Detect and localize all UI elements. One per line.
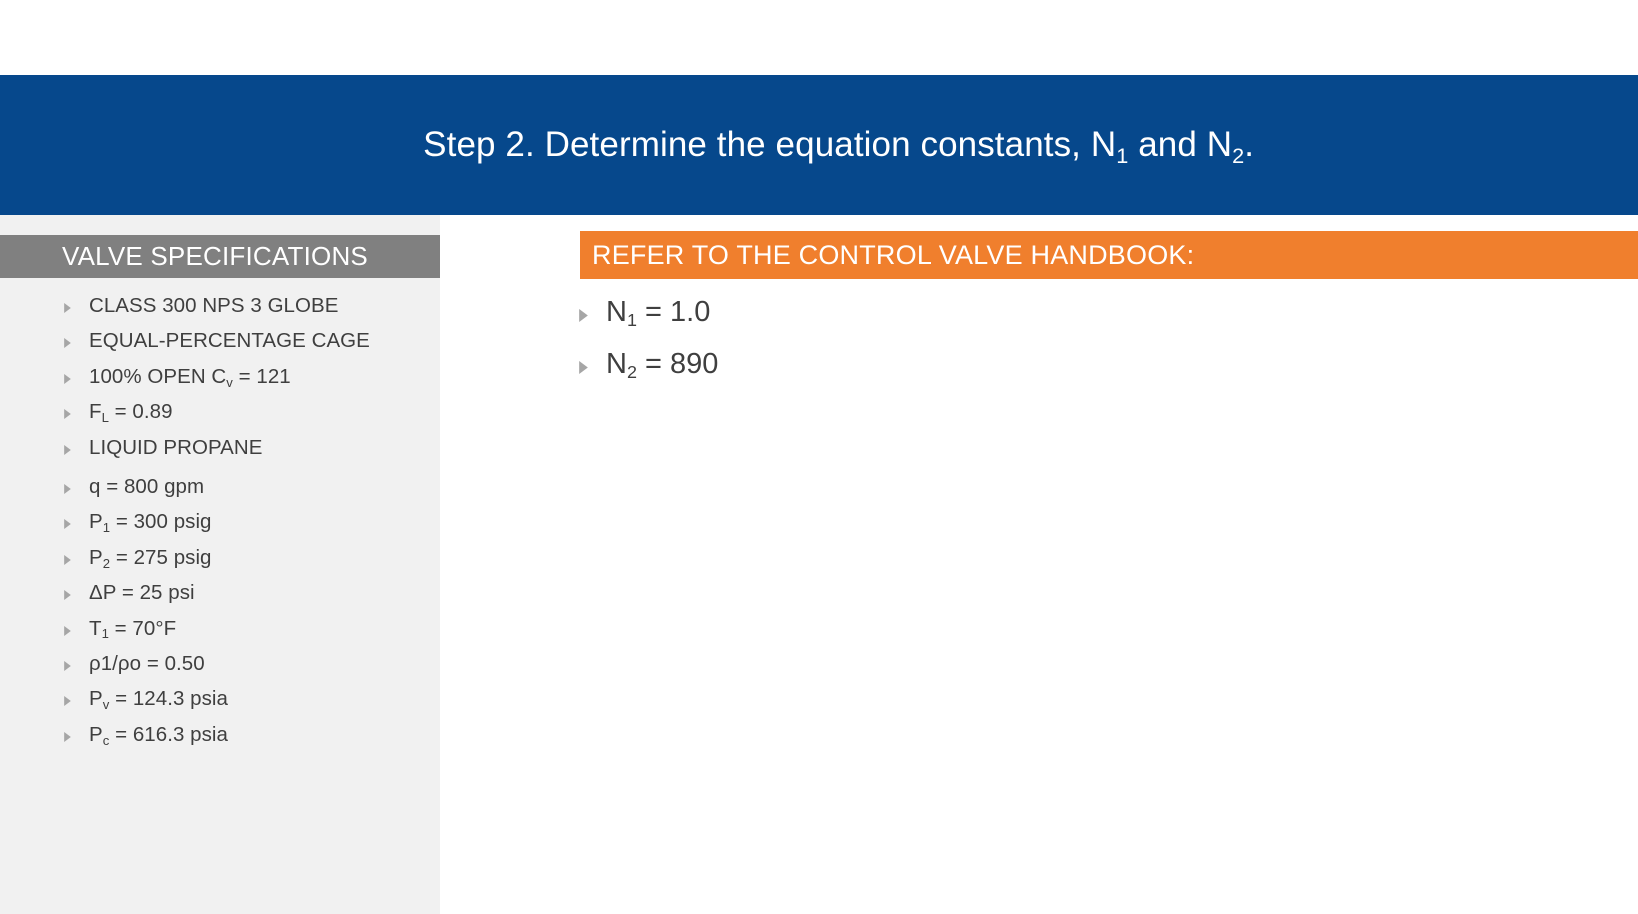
triangle-bullet-icon bbox=[63, 619, 89, 636]
spec-list-item-label: T1 = 70°F bbox=[89, 619, 176, 640]
triangle-bullet-icon bbox=[63, 689, 89, 706]
title-prefix: Step 2. Determine the equation constants… bbox=[423, 125, 1116, 164]
spec-list-item: ρ1/ρo = 0.50 bbox=[0, 654, 440, 689]
handbook-reference-header-label: REFER TO THE CONTROL VALVE HANDBOOK: bbox=[580, 240, 1194, 271]
equation-constants-list: N1 = 1.0N2 = 890 bbox=[578, 298, 1578, 402]
spec-list-item-label: Pv = 124.3 psia bbox=[89, 689, 228, 710]
triangle-bullet-icon bbox=[63, 331, 89, 348]
valve-specifications-header-label: VALVE SPECIFICATIONS bbox=[0, 241, 368, 272]
spec-list-item: FL = 0.89 bbox=[0, 402, 440, 437]
spec-list-item-label: ρ1/ρo = 0.50 bbox=[89, 654, 205, 675]
handbook-reference-header: REFER TO THE CONTROL VALVE HANDBOOK: bbox=[580, 231, 1638, 279]
triangle-bullet-icon bbox=[63, 296, 89, 313]
spec-list-item-label: CLASS 300 NPS 3 GLOBE bbox=[89, 296, 338, 317]
title-middle: and N bbox=[1128, 125, 1232, 164]
spec-list-item-label: FL = 0.89 bbox=[89, 402, 173, 423]
triangle-bullet-icon bbox=[63, 512, 89, 529]
spec-list-item: T1 = 70°F bbox=[0, 619, 440, 654]
spec-list-item: EQUAL-PERCENTAGE CAGE bbox=[0, 331, 440, 366]
equation-constant-label: N2 = 890 bbox=[606, 350, 718, 379]
spec-list-item-label: LIQUID PROPANE bbox=[89, 438, 262, 459]
triangle-bullet-icon bbox=[63, 548, 89, 565]
spec-list-item-label: 100% OPEN Cv = 121 bbox=[89, 367, 291, 388]
valve-specifications-header: VALVE SPECIFICATIONS bbox=[0, 235, 440, 278]
triangle-bullet-icon bbox=[578, 350, 606, 374]
triangle-bullet-icon bbox=[63, 583, 89, 600]
spec-list-item: CLASS 300 NPS 3 GLOBE bbox=[0, 296, 440, 331]
equation-constant-label: N1 = 1.0 bbox=[606, 298, 710, 327]
spec-list-item-label: Pc = 616.3 psia bbox=[89, 725, 228, 746]
spec-list-item-label: P1 = 300 psig bbox=[89, 512, 212, 533]
spec-list-item: ΔP = 25 psi bbox=[0, 583, 440, 618]
spec-list-item: 100% OPEN Cv = 121 bbox=[0, 367, 440, 402]
equation-constant-item: N1 = 1.0 bbox=[578, 298, 1578, 350]
spec-list-item: P2 = 275 psig bbox=[0, 548, 440, 583]
spec-list-item: Pv = 124.3 psia bbox=[0, 689, 440, 724]
spec-list-item: LIQUID PROPANE bbox=[0, 438, 440, 473]
triangle-bullet-icon bbox=[63, 654, 89, 671]
valve-specifications-list: CLASS 300 NPS 3 GLOBEEQUAL-PERCENTAGE CA… bbox=[0, 296, 440, 760]
title-suffix: . bbox=[1244, 125, 1254, 164]
spec-list-item-label: P2 = 275 psig bbox=[89, 548, 212, 569]
spec-list-item: Pc = 616.3 psia bbox=[0, 725, 440, 760]
title-banner: Step 2. Determine the equation constants… bbox=[0, 75, 1638, 215]
equation-constant-item: N2 = 890 bbox=[578, 350, 1578, 402]
triangle-bullet-icon bbox=[63, 477, 89, 494]
spec-list-item: q = 800 gpm bbox=[0, 477, 440, 512]
page-title: Step 2. Determine the equation constants… bbox=[384, 85, 1254, 205]
triangle-bullet-icon bbox=[63, 367, 89, 384]
triangle-bullet-icon bbox=[63, 725, 89, 742]
spec-list-item-label: q = 800 gpm bbox=[89, 477, 204, 498]
spec-list-item-label: ΔP = 25 psi bbox=[89, 583, 195, 604]
triangle-bullet-icon bbox=[578, 298, 606, 322]
title-subscript-2: 2 bbox=[1232, 143, 1244, 168]
triangle-bullet-icon bbox=[63, 438, 89, 455]
title-subscript-1: 1 bbox=[1116, 143, 1128, 168]
triangle-bullet-icon bbox=[63, 402, 89, 419]
spec-list-item: P1 = 300 psig bbox=[0, 512, 440, 547]
spec-list-item-label: EQUAL-PERCENTAGE CAGE bbox=[89, 331, 370, 352]
